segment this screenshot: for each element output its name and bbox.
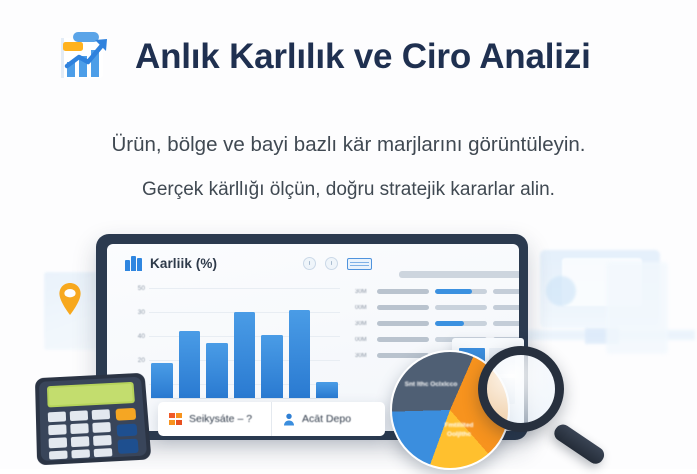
progress-fill	[435, 289, 472, 294]
list-item[interactable]: 30M	[355, 319, 519, 328]
bar-chart-icon	[125, 256, 142, 271]
list-item-tick: 00M	[355, 337, 371, 343]
bar	[206, 343, 228, 398]
list-item-progress	[435, 305, 487, 310]
magnifier-lens	[478, 346, 564, 432]
location-pin-icon	[57, 282, 83, 316]
y-axis-tick: 50	[125, 285, 145, 292]
magnifier-handle	[551, 421, 607, 466]
pie-slice-label: Snt lthc Oclxlcco	[404, 381, 458, 390]
bar	[151, 363, 173, 398]
y-axis-tick: 40	[125, 333, 145, 340]
action-button-1[interactable]: Seikysáte – ?	[158, 402, 271, 436]
list-item-bar	[377, 321, 429, 326]
list-item-bar	[377, 305, 429, 310]
list-item-meta	[493, 289, 519, 294]
list-item-tick: 30M	[355, 321, 371, 327]
list-item-progress	[435, 289, 487, 294]
page-title: Anlık Karlılık ve Ciro Analizi	[135, 37, 591, 77]
chart-card-title: Karliik (%)	[150, 256, 217, 271]
list-view-icon[interactable]	[347, 258, 372, 270]
bar-chart-growth-icon	[55, 26, 117, 88]
action-button-2[interactable]: Acāt Depo	[271, 402, 385, 436]
bar-series	[151, 300, 338, 398]
background-desk-wash	[520, 330, 695, 340]
clock-icon[interactable]	[303, 257, 316, 270]
action-button-1-label: Seikysáte – ?	[189, 413, 252, 425]
magnifying-glass-icon	[470, 342, 620, 469]
list-item-bar	[377, 289, 429, 294]
list-item-tick: 30M	[355, 289, 371, 295]
list-item-meta	[493, 305, 519, 310]
refresh-icon[interactable]	[325, 257, 338, 270]
y-axis-tick: 30	[125, 309, 145, 316]
list-item-meta	[493, 321, 519, 326]
subtitle-line-1: Ürün, bölge ve bayi bazlı kär marjlarını…	[0, 133, 697, 157]
bar	[261, 335, 283, 398]
chart-card-header: Karliik (%)	[125, 256, 217, 271]
bar	[289, 310, 311, 398]
background-monitor-screen-wash	[562, 258, 642, 306]
list-item-tick: 00M	[355, 305, 371, 311]
bar	[179, 331, 201, 398]
action-bar: Seikysáte – ? Acāt Depo	[158, 402, 385, 436]
background-monitor-wash	[540, 250, 660, 328]
list-item[interactable]: 00M	[355, 303, 519, 312]
list-item-progress	[435, 321, 487, 326]
gridline	[149, 288, 340, 289]
dashboard-toolbar	[303, 257, 372, 270]
progress-fill	[435, 321, 464, 326]
action-button-2-label: Acāt Depo	[302, 413, 351, 425]
x-axis-line	[151, 398, 338, 399]
bar	[316, 382, 338, 398]
background-circle-wash	[546, 276, 576, 306]
calculator-icon	[33, 369, 154, 469]
people-icon	[283, 413, 295, 426]
page-header: Anlık Karlılık ve Ciro Analizi	[55, 26, 591, 88]
promo-banner: Anlık Karlılık ve Ciro Analizi Ürün, böl…	[0, 0, 697, 469]
list-item-tick: 30M	[355, 353, 371, 359]
list-title-placeholder	[399, 271, 519, 278]
list-item-bar	[377, 337, 429, 342]
bar-chart: 50 30 40 20 01 Bayi 1 Bayi 2 Bayi 3	[125, 282, 340, 412]
background-right-panel-wash	[606, 262, 668, 354]
subtitle-line-2: Gerçek kärllığı ölçün, doğru stratejik k…	[0, 179, 697, 201]
list-item[interactable]: 30M	[355, 287, 519, 296]
bar	[234, 312, 256, 398]
grid-apps-icon	[169, 413, 182, 426]
y-axis-tick: 20	[125, 357, 145, 364]
